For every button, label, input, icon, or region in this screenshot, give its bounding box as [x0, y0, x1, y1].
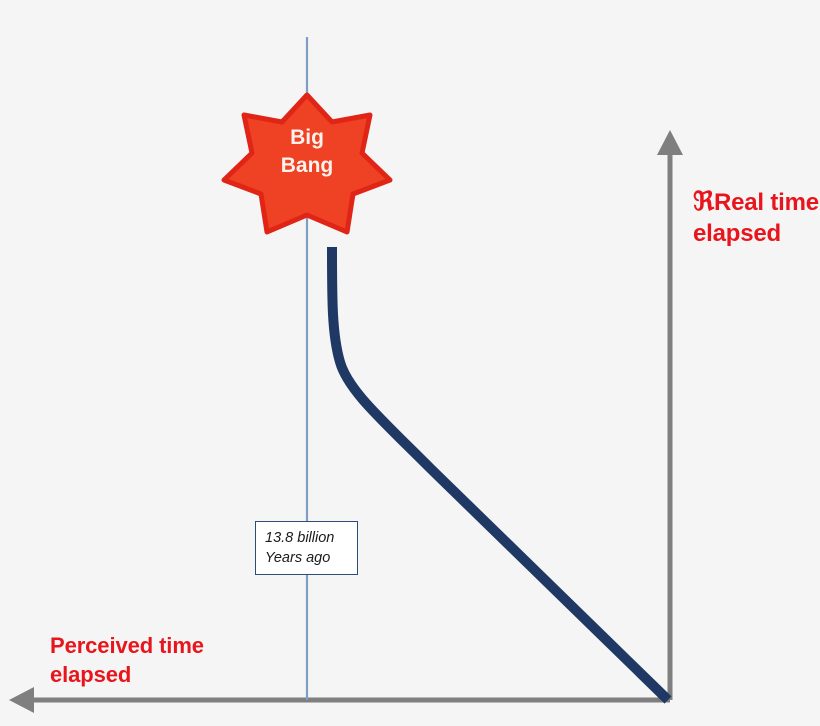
real-time-label-line1: Real time [714, 189, 819, 216]
perceived-time-label-line1: Perceived time [50, 633, 204, 658]
years-ago-line2: Years ago [265, 548, 357, 568]
vertical-axis [657, 130, 683, 700]
fraktur-r-glyph: ℜ [693, 187, 714, 217]
perceived-time-label-line2: elapsed [50, 662, 131, 687]
horizontal-axis [9, 687, 670, 713]
perceived-vs-real-time-curve [332, 247, 668, 700]
big-bang-star-icon [224, 95, 390, 232]
real-time-label-line2: elapsed [693, 220, 781, 247]
up-arrow-icon [657, 130, 683, 155]
real-time-axis-label: ℜReal timeelapsed [693, 186, 819, 249]
years-ago-line1: 13.8 billion [265, 528, 357, 548]
years-ago-callout-box: 13.8 billion Years ago [255, 521, 358, 575]
diagram-canvas: BigBang ℜReal timeelapsed Perceived time… [0, 0, 820, 726]
diagram-svg [0, 0, 820, 726]
perceived-time-axis-label: Perceived timeelapsed [50, 632, 250, 689]
left-arrow-icon [9, 687, 34, 713]
